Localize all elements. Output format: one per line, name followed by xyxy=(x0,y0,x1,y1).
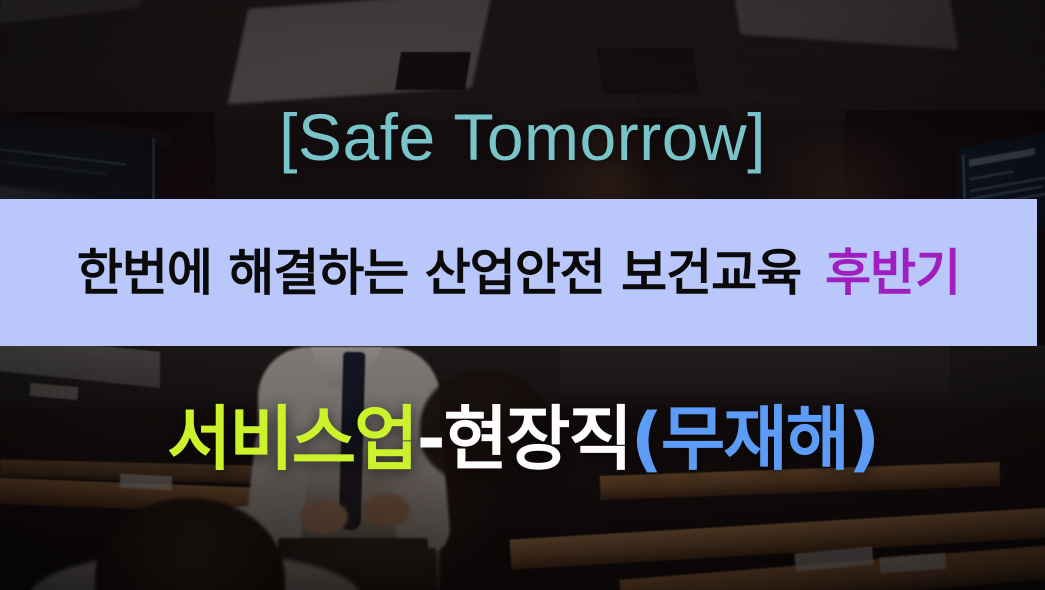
mid-banner-accent-text: 후반기 xyxy=(825,248,960,298)
mid-banner-text: 한번에 해결하는 산업안전 보건교육 후반기 xyxy=(77,248,960,298)
subline-course-title: 서비스업-현장직(무재해) xyxy=(0,404,1045,474)
subline-industry-text: 서비스업 xyxy=(167,398,417,480)
headline-safe-tomorrow: [Safe Tomorrow] xyxy=(0,104,1045,170)
promo-banner: [Safe Tomorrow] 한번에 해결하는 산업안전 보건교육 후반기 서… xyxy=(0,0,1045,590)
mid-banner-strip: 한번에 해결하는 산업안전 보건교육 후반기 xyxy=(0,199,1037,346)
mid-banner-main-text: 한번에 해결하는 산업안전 보건교육 xyxy=(77,248,801,298)
subline-accident-free-text: (무재해) xyxy=(631,398,878,480)
subline-role-text: -현장직 xyxy=(417,398,631,480)
